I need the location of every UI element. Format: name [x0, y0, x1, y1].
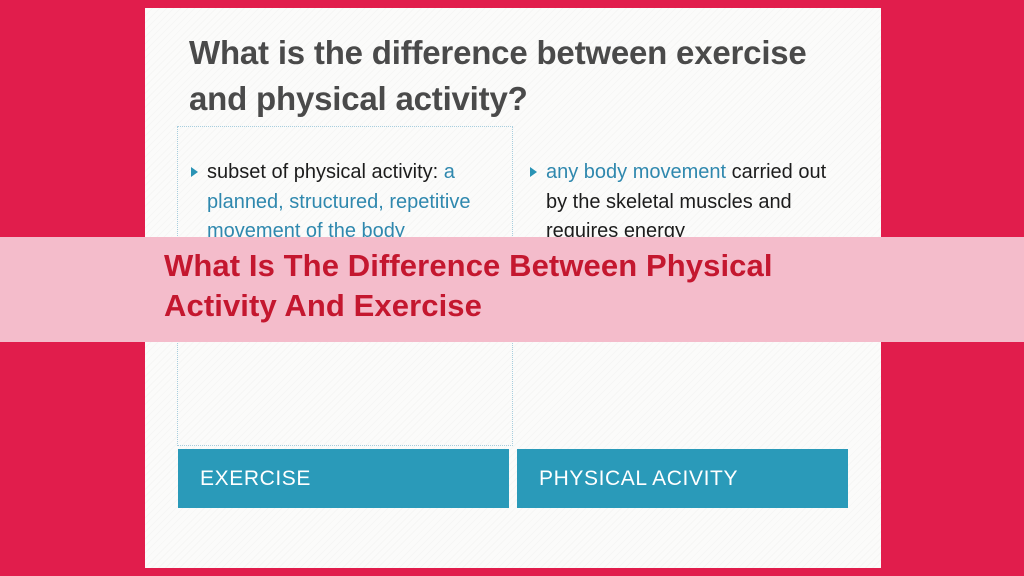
triangle-bullet-icon [530, 167, 537, 177]
label-bar-exercise: EXERCISE [178, 449, 509, 508]
overlay-headline: What Is The Difference Between Physical … [164, 246, 884, 325]
label-bar-physical-activity-text: PHYSICAL ACIVITY [539, 467, 738, 491]
bullet-row: any body movement carried out by the ske… [530, 158, 830, 247]
slide-heading: What is the difference between exercise … [189, 30, 839, 121]
bullet-segment-plain: subset of physical activity: [207, 161, 444, 183]
label-bar-exercise-text: EXERCISE [200, 467, 311, 491]
label-bar-physical-activity: PHYSICAL ACIVITY [517, 449, 848, 508]
bullet-column-physical-activity: any body movement carried out by the ske… [530, 158, 830, 247]
triangle-bullet-icon [191, 167, 198, 177]
bullet-segment-highlight: any body movement [546, 161, 726, 183]
bullet-text-physical-activity: any body movement carried out by the ske… [546, 158, 830, 247]
